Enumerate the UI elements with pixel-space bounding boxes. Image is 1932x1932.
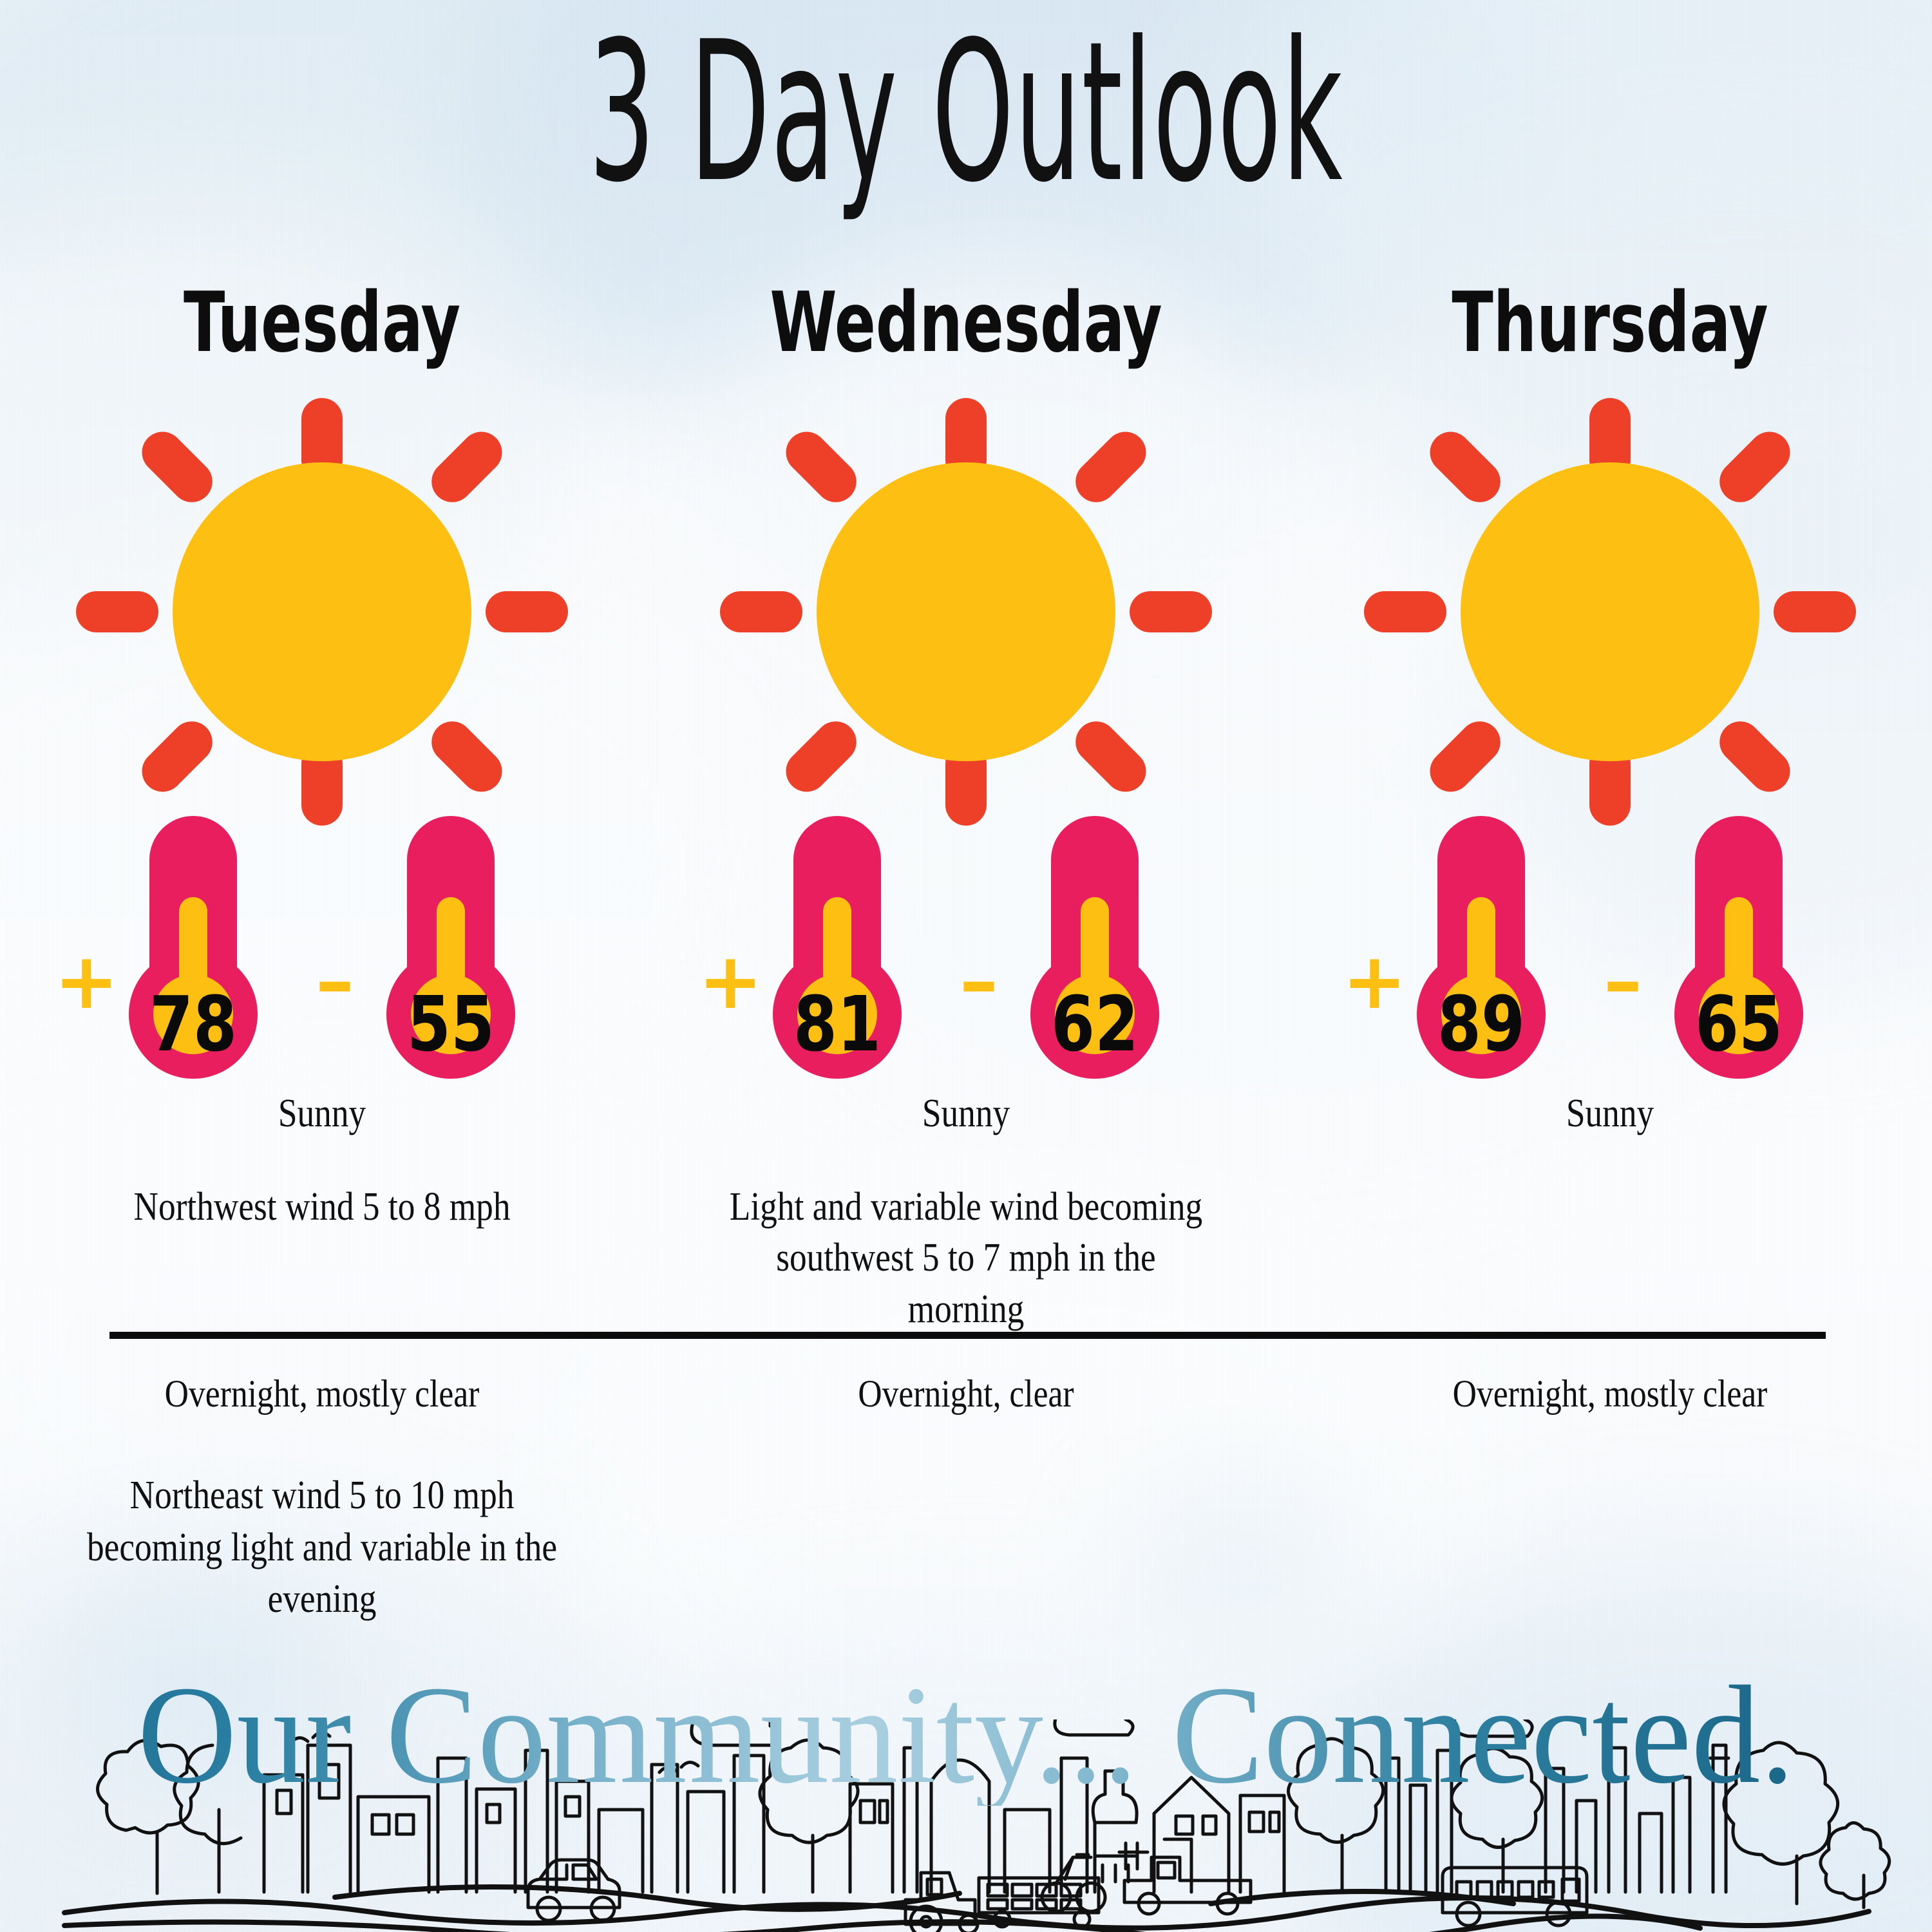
footer-tagline: Our Community... Connected. <box>19 1665 1913 1806</box>
overnight-note: Overnight, mostly clear <box>1333 1374 1887 1413</box>
overnight-note: Overnight, clear <box>689 1374 1243 1413</box>
footer: Our Community... Connected. <box>0 1662 1932 1932</box>
overnight-wind-text: Northeast wind 5 to 10 mph becoming ligh… <box>84 1470 560 1625</box>
overnight-note: Overnight, mostly clear <box>45 1374 599 1413</box>
overnight-section: Overnight, mostly clear Overnight, clear… <box>0 0 1932 1932</box>
